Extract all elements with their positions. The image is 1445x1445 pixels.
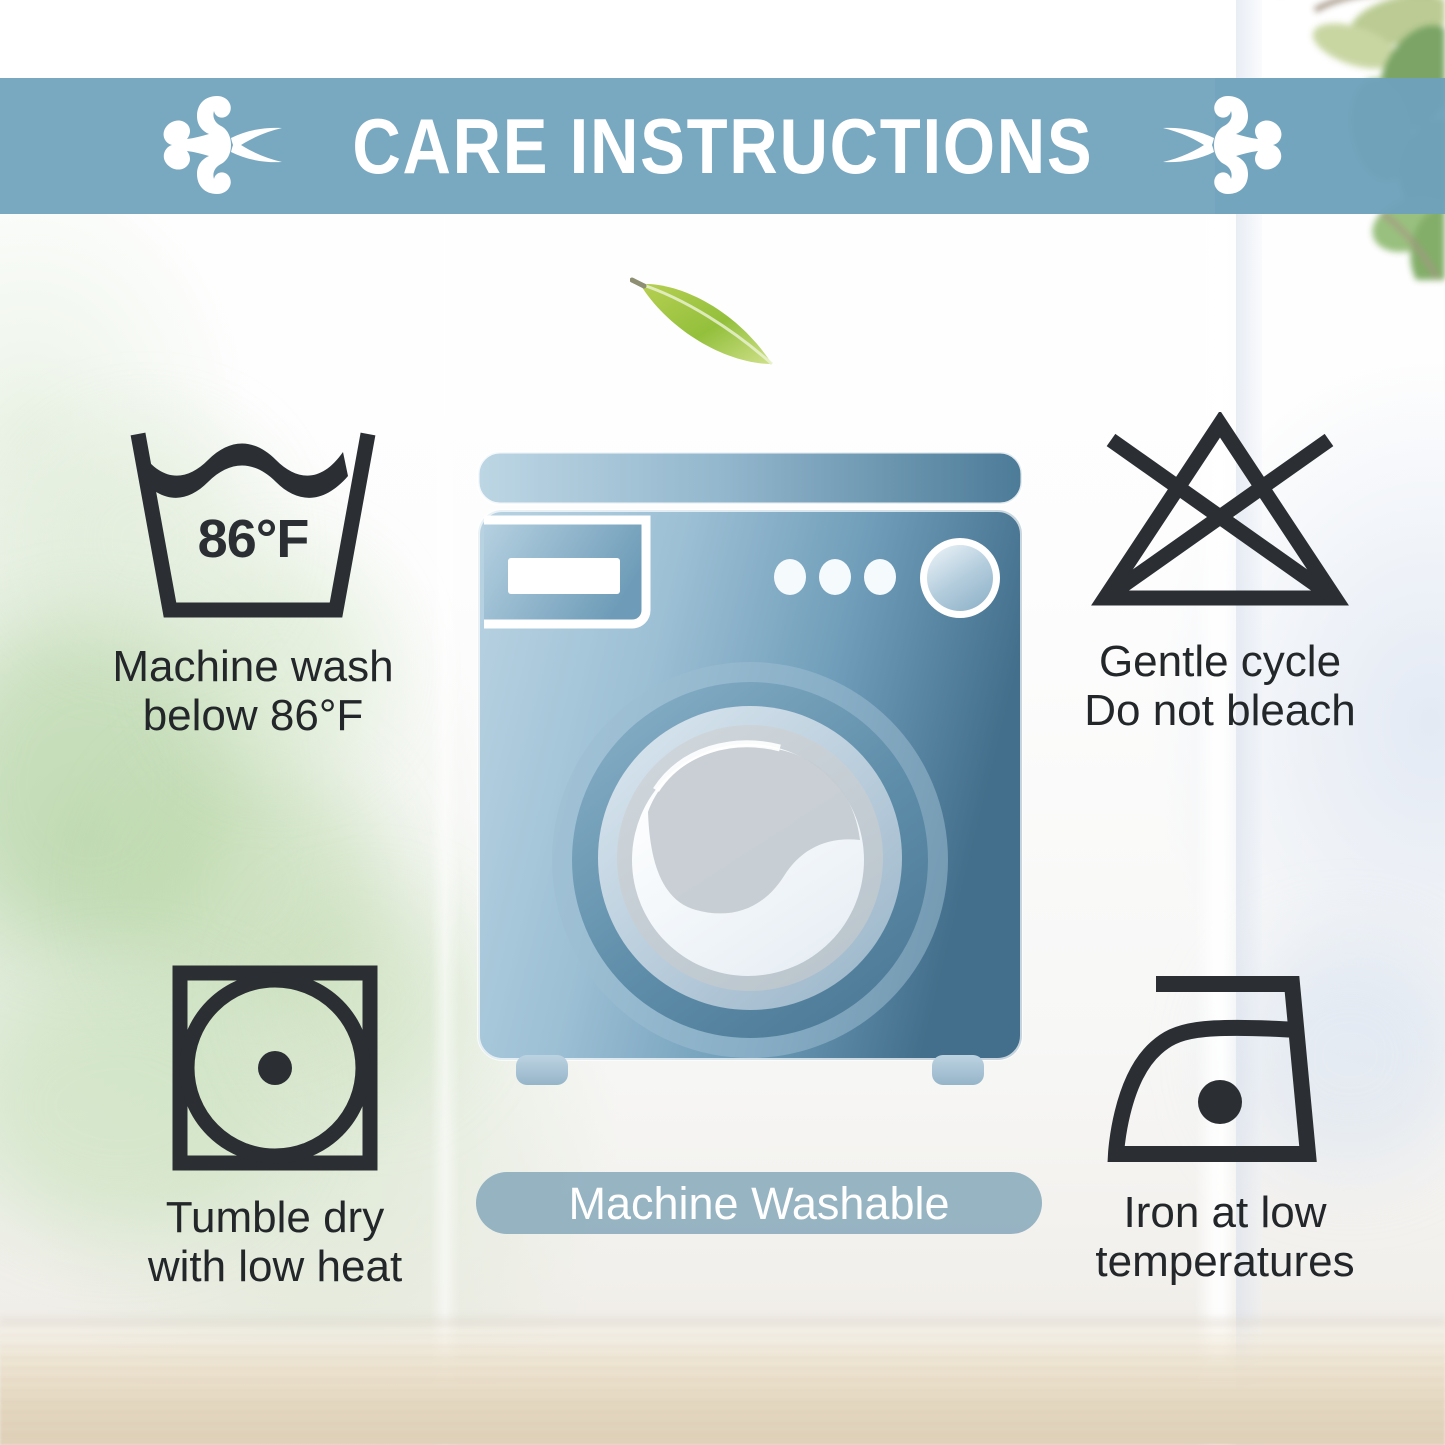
fleur-de-lis-icon	[152, 94, 292, 198]
care-label-line2: Do not bleach	[1000, 686, 1440, 735]
care-item-machine-wash: 86°F Machine wash below 86°F	[18, 420, 488, 741]
care-item-do-not-bleach: Gentle cycle Do not bleach	[1000, 412, 1440, 736]
care-instructions-banner: CARE INSTRUCTIONS	[0, 78, 1445, 214]
care-label-line1: Gentle cycle	[1099, 637, 1341, 686]
care-label-line2: below 86°F	[18, 691, 488, 740]
washer-top-lid	[478, 452, 1022, 504]
wash-temperature-value: 86°F	[18, 508, 488, 570]
care-label-line1: Tumble dry	[166, 1193, 384, 1242]
care-item-label: Gentle cycle Do not bleach	[1000, 637, 1440, 736]
washer-foot	[932, 1055, 984, 1085]
care-label-line1: Iron at low	[1124, 1188, 1327, 1237]
care-item-iron-low: Iron at low temperatures	[1010, 955, 1440, 1287]
machine-washable-badge: Machine Washable	[476, 1172, 1042, 1234]
care-symbols-layout: 86°F Machine wash below 86°F Gentle cycl…	[0, 0, 1445, 1445]
page-title: CARE INSTRUCTIONS	[352, 107, 1093, 185]
washer-door	[552, 662, 948, 1058]
care-label-line1: Machine wash	[112, 642, 393, 691]
tumble-dry-low-icon	[40, 960, 510, 1175]
washer-foot	[516, 1055, 568, 1085]
care-item-label: Machine wash below 86°F	[18, 642, 488, 741]
care-label-line2: with low heat	[40, 1242, 510, 1291]
care-label-line2: temperatures	[1010, 1237, 1440, 1286]
care-item-label: Iron at low temperatures	[1010, 1188, 1440, 1287]
badge-label: Machine Washable	[568, 1181, 949, 1226]
washer-indicator-buttons	[774, 559, 896, 595]
iron-low-temperature-icon	[1010, 955, 1440, 1170]
detergent-drawer	[484, 520, 646, 624]
control-knob	[920, 538, 1000, 618]
washing-machine-illustration	[470, 440, 1030, 1130]
care-item-label: Tumble dry with low heat	[40, 1193, 510, 1292]
do-not-bleach-triangle-icon	[1000, 412, 1440, 617]
wash-tub-icon: 86°F	[18, 420, 488, 620]
fleur-de-lis-icon	[1153, 94, 1293, 198]
leaf-icon	[630, 268, 790, 378]
care-item-tumble-dry: Tumble dry with low heat	[40, 960, 510, 1292]
